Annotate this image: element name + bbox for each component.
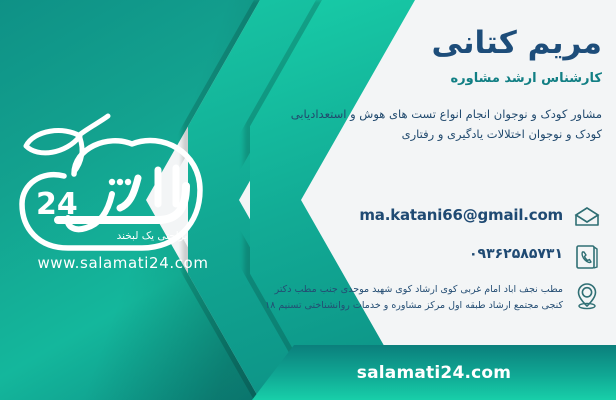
- logo-number: 24: [36, 187, 78, 222]
- location-pin-icon: [572, 281, 602, 311]
- contact-row-email[interactable]: ma.katani66@gmail.com: [262, 203, 602, 233]
- apple-logo-icon: 24 براحتی یک لبخند: [8, 108, 238, 268]
- footer-bar: salamati24.com: [252, 345, 616, 400]
- profile-block: مریم کتانی کارشناس ارشد مشاوره مشاور کود…: [272, 26, 602, 144]
- profile-role: کارشناس ارشد مشاوره: [272, 71, 602, 86]
- contact-row-address[interactable]: مطب نجف اباد امام غربی کوی ارشاد کوی شهی…: [262, 281, 602, 313]
- email-value: ma.katani66@gmail.com: [262, 203, 563, 224]
- page-title: مریم کتانی: [272, 26, 602, 60]
- contact-list: ma.katani66@gmail.com ۰۹۳۶۲۵۸۵۷۳۱ مط: [262, 203, 602, 322]
- envelope-icon: [572, 203, 602, 233]
- phone-value: ۰۹۳۶۲۵۸۵۷۳۱: [262, 242, 563, 262]
- footer-website[interactable]: salamati24.com: [357, 363, 511, 383]
- logo-tagline: براحتی یک لبخند: [117, 230, 188, 242]
- address-value: مطب نجف اباد امام غربی کوی ارشاد کوی شهی…: [262, 281, 563, 313]
- logo-url: www.salamati24.com: [8, 254, 238, 272]
- business-card: 24 براحتی یک لبخند www.salamati24.com مر…: [0, 0, 616, 400]
- profile-description: مشاور کودک و نوجوان انجام انواع تست های …: [272, 104, 602, 144]
- phone-book-icon: [572, 242, 602, 272]
- logo: 24 براحتی یک لبخند www.salamati24.com: [8, 108, 238, 278]
- contact-row-phone[interactable]: ۰۹۳۶۲۵۸۵۷۳۱: [262, 242, 602, 272]
